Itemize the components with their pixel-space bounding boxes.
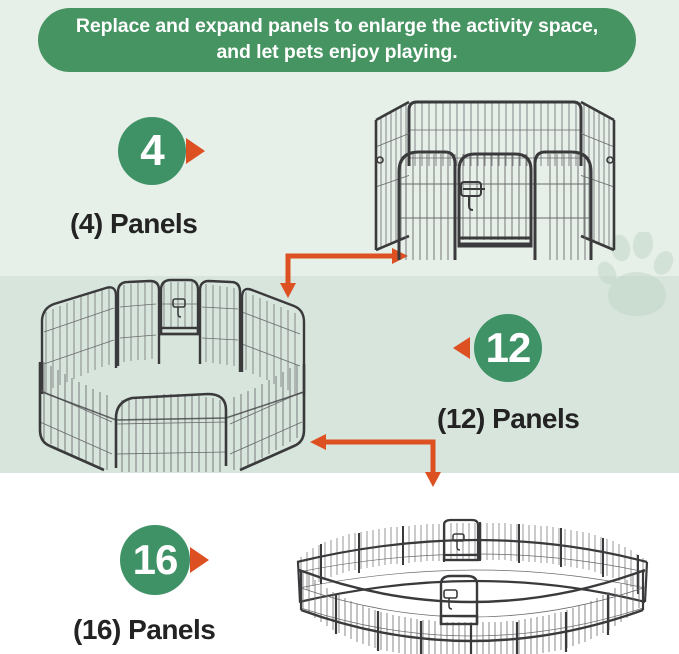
- badge-16-panels: 16: [120, 525, 190, 595]
- infographic-canvas: Replace and expand panels to enlarge the…: [0, 0, 679, 654]
- square-playpen-4-panels: [373, 88, 617, 268]
- pointer-triangle-left-12: [453, 337, 470, 359]
- caption-4-panels: (4) Panels: [70, 208, 197, 240]
- caption-12-panels: (12) Panels: [437, 403, 579, 435]
- gate-latch-icon: [453, 534, 464, 550]
- connector-12-to-16: [300, 428, 445, 488]
- pointer-triangle-right-16: [190, 547, 209, 573]
- header-banner-text: Replace and expand panels to enlarge the…: [58, 14, 616, 66]
- badge-4-panels: 4: [118, 117, 186, 185]
- pointer-triangle-right-4: [186, 138, 205, 164]
- gate-latch-icon: [461, 182, 485, 210]
- round-playpen-16-panels: [281, 512, 679, 654]
- badge-16-number: 16: [133, 539, 178, 581]
- arrowhead-down-icon: [425, 472, 441, 487]
- caption-16-panels: (16) Panels: [73, 614, 215, 646]
- badge-12-number: 12: [486, 327, 531, 369]
- gate-latch-icon: [444, 590, 457, 609]
- octagon-playpen-12-panels: [18, 272, 318, 472]
- gate-latch-icon: [173, 299, 185, 317]
- badge-12-panels: 12: [474, 314, 542, 382]
- badge-4-number: 4: [140, 129, 163, 173]
- header-banner: Replace and expand panels to enlarge the…: [38, 8, 636, 72]
